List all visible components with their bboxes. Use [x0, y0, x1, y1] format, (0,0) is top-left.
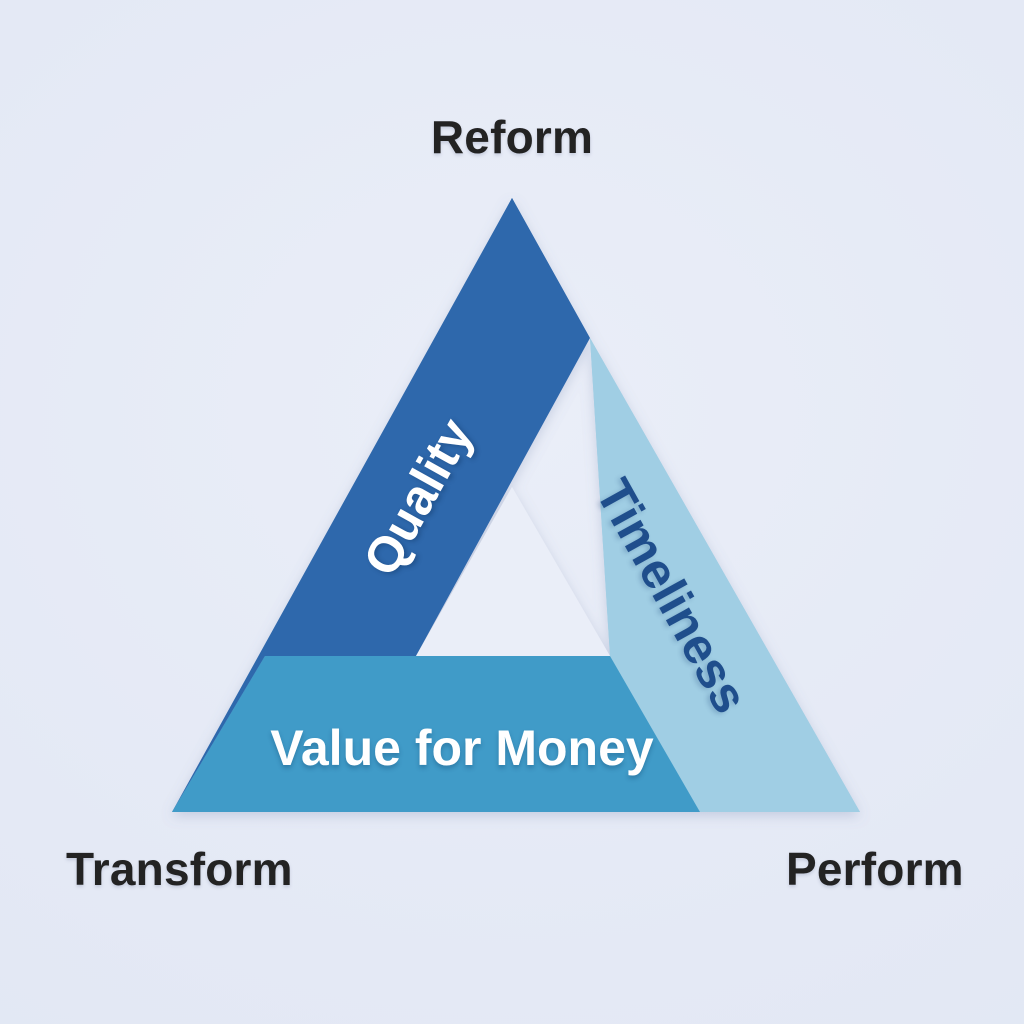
- vertex-label-perform: Perform: [786, 842, 964, 896]
- vertex-label-reform: Reform: [431, 110, 593, 164]
- diagram-canvas: Reform Transform Perform Quality Timelin…: [0, 0, 1024, 1024]
- band-label-value-for-money: Value for Money: [270, 719, 653, 777]
- vertex-label-transform: Transform: [66, 842, 293, 896]
